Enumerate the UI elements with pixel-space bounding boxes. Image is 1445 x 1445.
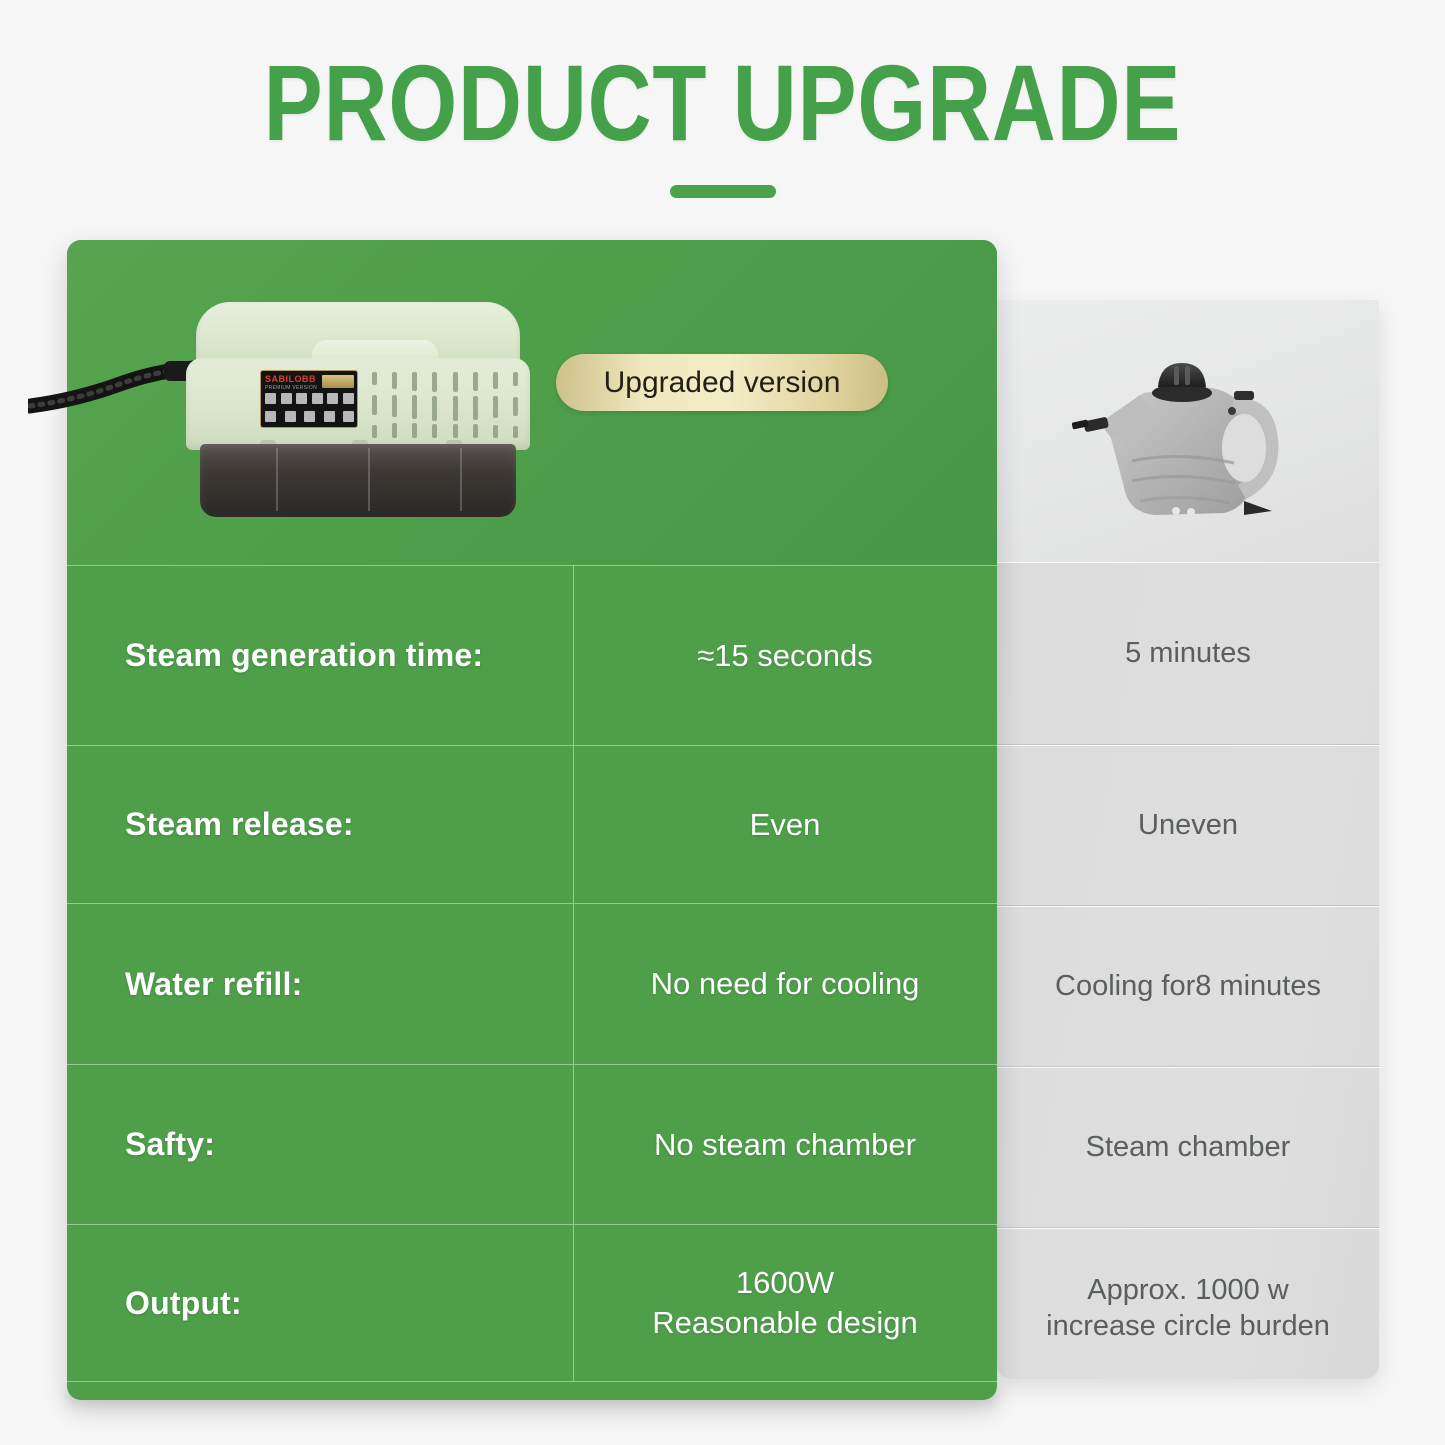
- vent-slot: [473, 424, 478, 438]
- vent-slot: [432, 372, 437, 392]
- table-row: Steam generation time: ≈15 seconds: [67, 565, 997, 745]
- vent-column: [432, 372, 437, 438]
- vent-slot: [453, 424, 458, 438]
- label-gold-chip: [322, 375, 354, 388]
- table-row: Steam release: Even: [67, 745, 997, 903]
- vent-slot: [372, 425, 377, 438]
- table-row: Steam chamber: [997, 1067, 1379, 1228]
- vent-slot: [513, 397, 518, 416]
- vent-column: [513, 372, 518, 438]
- vent-slot: [412, 395, 417, 419]
- flame-icon: [265, 393, 276, 404]
- table-row: Approx. 1000 w increase circle burden: [997, 1228, 1379, 1379]
- row-label-safty: Safty:: [67, 1126, 573, 1163]
- tank-seam: [368, 448, 370, 511]
- table-row: 5 minutes: [997, 562, 1379, 745]
- old-value-output-line2: increase circle burden: [1046, 1309, 1330, 1344]
- table-row: Water refill: No need for cooling: [67, 903, 997, 1064]
- old-value-steam-generation-time: 5 minutes: [1125, 636, 1251, 671]
- vent-slot: [513, 372, 518, 386]
- upgraded-value-safty: No steam chamber: [573, 1125, 997, 1165]
- tank-seam: [276, 448, 278, 511]
- old-value-output-line1: Approx. 1000 w: [1046, 1273, 1330, 1308]
- vent-slot: [412, 423, 417, 438]
- hose-icon: [28, 360, 198, 414]
- old-product-value-column: 5 minutes Uneven Cooling for8 minutes St…: [997, 562, 1379, 1379]
- tank-seam: [460, 448, 462, 511]
- vent-slot: [392, 395, 397, 417]
- vent-column: [412, 372, 417, 438]
- vent-slot: [372, 395, 377, 415]
- vent-slot: [432, 396, 437, 421]
- product-water-tank: [200, 444, 516, 517]
- upgraded-value-output-line2: Reasonable design: [587, 1303, 983, 1343]
- row-label-water-refill: Water refill:: [67, 966, 573, 1003]
- column-divider: [573, 746, 574, 903]
- label-icon-row-bottom: [265, 411, 354, 422]
- temperature-icon: [296, 393, 307, 404]
- window-icon: [304, 411, 315, 422]
- vent-slot: [493, 396, 498, 418]
- upgraded-value-column: Steam generation time: ≈15 seconds Steam…: [67, 565, 997, 1400]
- row-label-steam-release: Steam release:: [67, 806, 573, 843]
- upgraded-version-badge: Upgraded version: [556, 354, 888, 411]
- vent-slot: [392, 372, 397, 389]
- column-divider: [573, 904, 574, 1064]
- column-divider: [573, 1065, 574, 1224]
- vent-column: [453, 372, 458, 438]
- vent-slot: [473, 396, 478, 420]
- car-icon: [265, 411, 276, 422]
- handheld-steamer-icon: [1048, 335, 1338, 545]
- vent-slot: [493, 425, 498, 438]
- upgraded-value-water-refill: No need for cooling: [573, 964, 997, 1004]
- row-label-steam-generation-time: Steam generation time:: [67, 637, 573, 674]
- product-vent-grid: [372, 372, 518, 438]
- column-divider: [573, 1225, 574, 1381]
- old-value-water-refill: Cooling for8 minutes: [1055, 969, 1321, 1004]
- old-value-steam-release: Uneven: [1138, 808, 1238, 843]
- vent-slot: [493, 372, 498, 389]
- upgraded-value-output-line1: 1600W: [587, 1263, 983, 1303]
- vent-slot: [453, 396, 458, 421]
- product-spec-label: SABILOBB PREMIUM VERSION: [260, 370, 358, 428]
- upgraded-value-steam-release: Even: [573, 805, 997, 845]
- upgraded-version-badge-label: Upgraded version: [604, 366, 841, 400]
- basket-icon: [312, 393, 323, 404]
- sofa-icon: [281, 393, 292, 404]
- vent-column: [493, 372, 498, 438]
- label-icon-row-top: [265, 393, 354, 404]
- vent-column: [473, 372, 478, 438]
- product-housing: SABILOBB PREMIUM VERSION: [186, 358, 530, 450]
- column-divider: [573, 566, 574, 745]
- upgraded-value-steam-generation-time: ≈15 seconds: [573, 636, 997, 676]
- table-row: Output: 1600W Reasonable design: [67, 1224, 997, 1381]
- vent-slot: [432, 424, 437, 438]
- upgraded-product-hose: [28, 360, 198, 414]
- vent-slot: [372, 372, 377, 385]
- stove-icon: [324, 411, 335, 422]
- old-product-image: [1048, 335, 1338, 545]
- upgraded-table-tail-row: [67, 1381, 997, 1400]
- spray-icon: [285, 411, 296, 422]
- vent-slot: [392, 423, 397, 438]
- door-icon: [343, 411, 354, 422]
- row-label-output: Output:: [67, 1285, 573, 1322]
- table-row: Cooling for8 minutes: [997, 906, 1379, 1067]
- table-row: Safty: No steam chamber: [67, 1064, 997, 1224]
- vent-slot: [473, 372, 478, 391]
- comparison-table: 5 minutes Uneven Cooling for8 minutes St…: [0, 0, 1445, 1445]
- vent-column: [372, 372, 377, 438]
- vent-slot: [453, 372, 458, 392]
- appliance-icon: [327, 393, 338, 404]
- table-row: Uneven: [997, 745, 1379, 906]
- vent-slot: [412, 372, 417, 391]
- upgraded-product-image: SABILOBB PREMIUM VERSION: [186, 302, 530, 517]
- vent-column: [392, 372, 397, 438]
- upgraded-value-output: 1600W Reasonable design: [573, 1263, 997, 1342]
- vent-slot: [513, 426, 518, 438]
- no-bleach-icon: [343, 393, 354, 404]
- old-value-safty: Steam chamber: [1086, 1130, 1291, 1165]
